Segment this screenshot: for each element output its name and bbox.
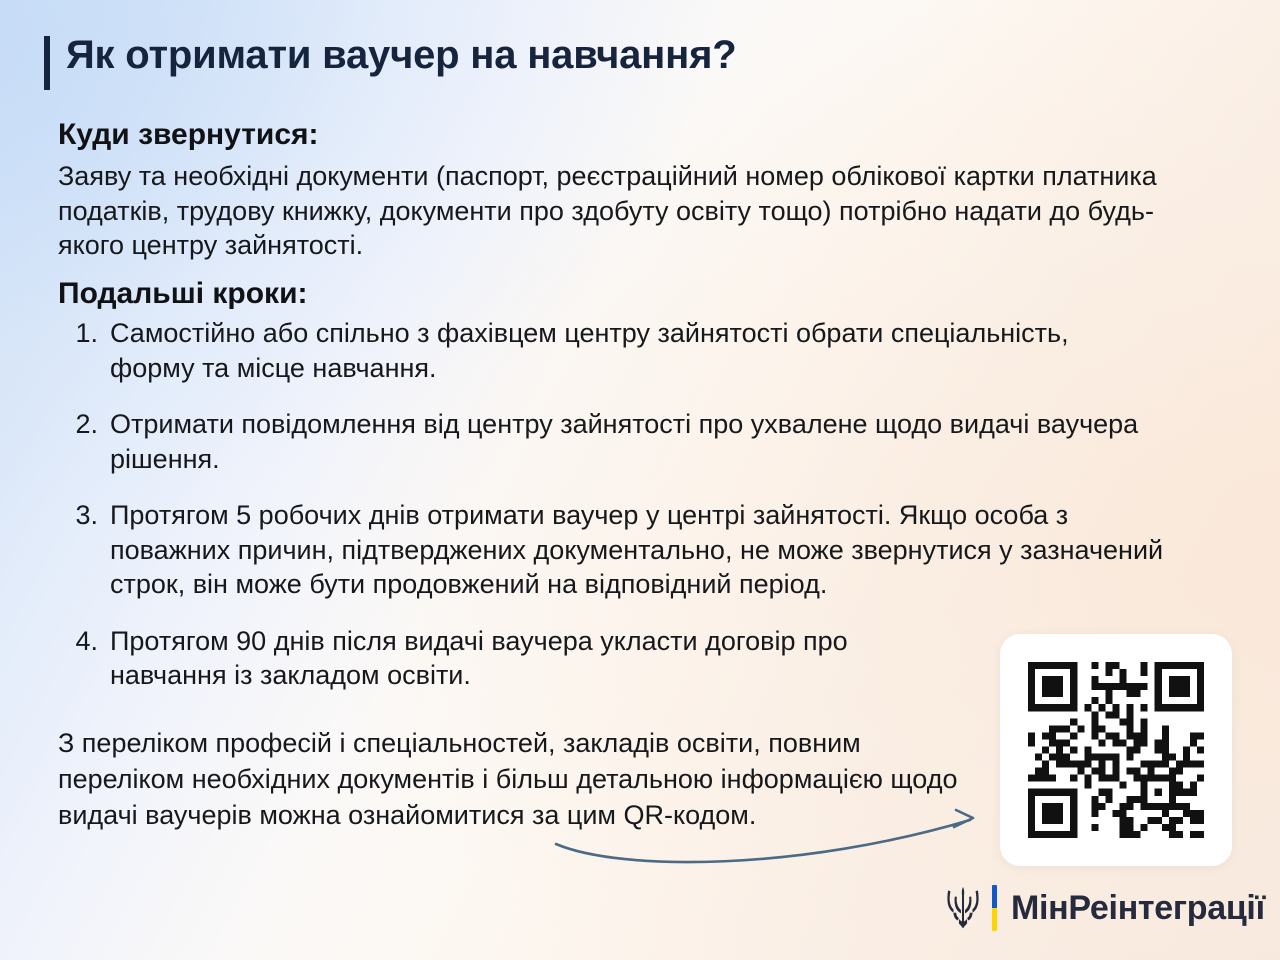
ukraine-trident-icon xyxy=(946,887,980,929)
list-item-text: Самостійно або спільно з фахівцем центру… xyxy=(110,316,1070,385)
title-accent-bar xyxy=(44,36,50,90)
list-item-number: 2. xyxy=(58,407,110,442)
page-title: Як отримати ваучер на навчання? xyxy=(44,32,736,90)
ministry-logo: МінРеінтеграції xyxy=(946,880,1265,936)
list-item-text: Протягом 5 робочих днів отримати ваучер … xyxy=(110,498,1170,602)
list-item-number: 4. xyxy=(58,624,110,659)
title-text: Як отримати ваучер на навчання? xyxy=(66,32,736,78)
list-item: 3. Протягом 5 робочих днів отримати вауч… xyxy=(58,498,1228,602)
list-item: 2. Отримати повідомлення від центру зайн… xyxy=(58,407,1228,476)
curved-arrow-right-icon xyxy=(552,796,1012,866)
section-heading-where: Куди звернутися: xyxy=(58,118,319,153)
slide-root: Як отримати ваучер на навчання? Куди зве… xyxy=(0,0,1280,960)
logo-name: МінРеінтеграції xyxy=(1011,891,1265,925)
list-item-text: Протягом 90 днів після видачі ваучера ук… xyxy=(110,624,970,693)
list-item-number: 3. xyxy=(58,498,110,533)
logo-flag-divider xyxy=(992,885,997,931)
qr-code-icon[interactable] xyxy=(1028,662,1204,838)
slide-content: Як отримати ваучер на навчання? Куди зве… xyxy=(0,0,1280,960)
list-item-text: Отримати повідомлення від центру зайнято… xyxy=(110,407,1150,476)
qr-code-card[interactable] xyxy=(1000,634,1232,866)
section-text-where: Заяву та необхідні документи (паспорт, р… xyxy=(58,159,1218,263)
list-item: 1. Самостійно або спільно з фахівцем цен… xyxy=(58,316,1228,385)
section-heading-steps: Подальші кроки: xyxy=(58,277,308,312)
list-item-number: 1. xyxy=(58,316,110,351)
